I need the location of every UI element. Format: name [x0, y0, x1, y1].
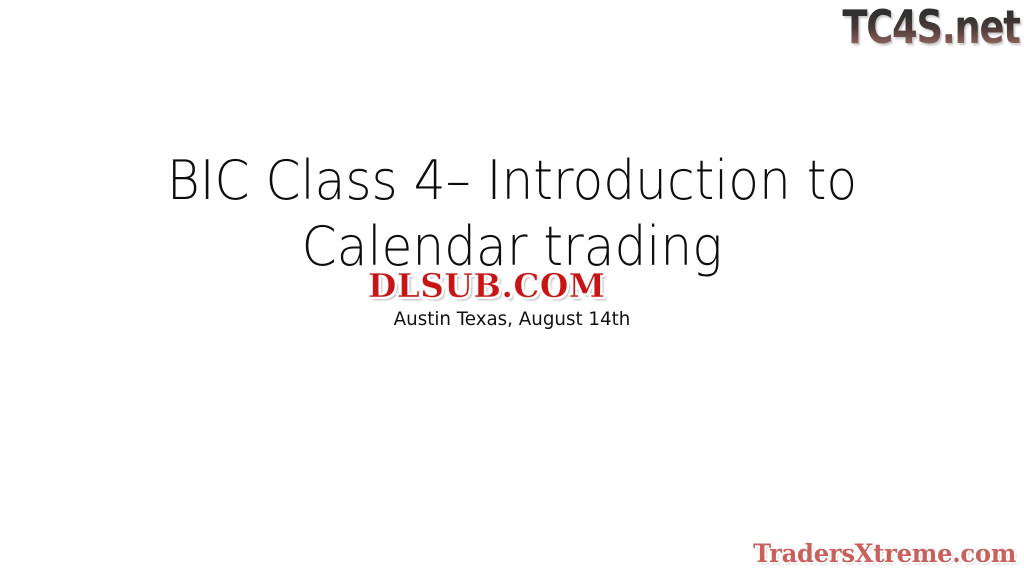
tradersxtreme-com-watermark: TradersXtreme.com — [753, 540, 1016, 568]
dlsub-com-watermark: DLSUB.COM — [368, 268, 605, 304]
title-line-1: BIC Class 4– Introduction to — [36, 148, 988, 214]
tc4s-net-logo: TC4S.net — [843, 2, 1020, 52]
slide-subtitle: Austin Texas, August 14th — [20, 306, 1003, 332]
presentation-slide: TC4S.net BIC Class 4– Introduction to Ca… — [0, 0, 1024, 576]
slide-title: BIC Class 4– Introduction to Calendar tr… — [0, 148, 1024, 280]
